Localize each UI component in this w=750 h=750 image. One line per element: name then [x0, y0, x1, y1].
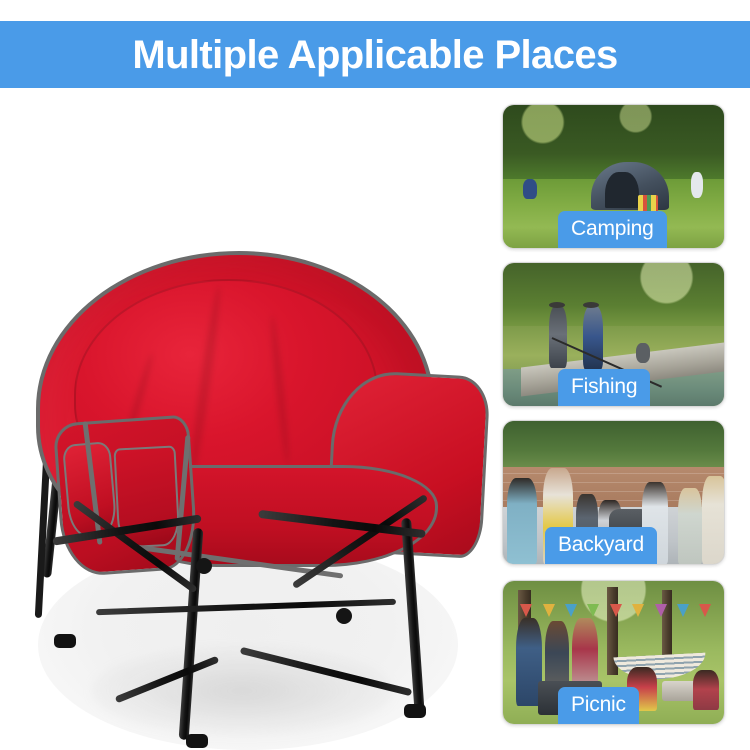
- bunting-flag: [677, 604, 689, 617]
- scene-card-fishing[interactable]: Fishing: [502, 262, 725, 407]
- frame-foot-cap: [404, 704, 426, 718]
- use-case-scene-column: Camping Fishing: [485, 88, 750, 750]
- picnic-person: [693, 670, 719, 710]
- product-image-panel: [0, 88, 485, 750]
- bunting-flag: [632, 604, 644, 617]
- seated-angler-person: [636, 343, 650, 363]
- camper-person: [691, 172, 703, 198]
- header-banner: Multiple Applicable Places: [0, 21, 750, 88]
- scene-card-picnic[interactable]: Picnic: [502, 580, 725, 725]
- scene-label-picnic: Picnic: [558, 687, 639, 724]
- scene-label-fishing: Fishing: [558, 369, 650, 406]
- bunting-flag: [610, 604, 622, 617]
- bunting-flag: [543, 604, 555, 617]
- frame-foot-cap: [186, 734, 208, 748]
- scene-card-backyard[interactable]: Backyard: [502, 420, 725, 565]
- bunting-flag: [655, 604, 667, 617]
- camper-person: [523, 179, 537, 199]
- angler-hat: [549, 302, 565, 308]
- bunting-flag: [699, 604, 711, 617]
- scene-card-camping[interactable]: Camping: [502, 104, 725, 249]
- frame-pivot-hub: [196, 558, 212, 574]
- bunting-flag: [520, 604, 532, 617]
- party-guest: [678, 488, 702, 564]
- page-title: Multiple Applicable Places: [132, 35, 617, 75]
- backyard-foliage: [503, 421, 724, 470]
- bunting-flag: [565, 604, 577, 617]
- angler-hat: [583, 302, 599, 308]
- bunting-flags: [516, 604, 719, 622]
- frame-pivot-hub: [336, 608, 352, 624]
- product-photo-folding-chair: [0, 88, 485, 750]
- party-guest: [702, 476, 725, 564]
- boombox: [662, 681, 696, 701]
- scene-label-backyard: Backyard: [545, 527, 657, 564]
- scene-label-camping: Camping: [558, 211, 667, 248]
- tent-door: [605, 172, 639, 208]
- bunting-flag: [587, 604, 599, 617]
- party-guest: [507, 478, 537, 564]
- frame-foot-cap: [54, 634, 76, 648]
